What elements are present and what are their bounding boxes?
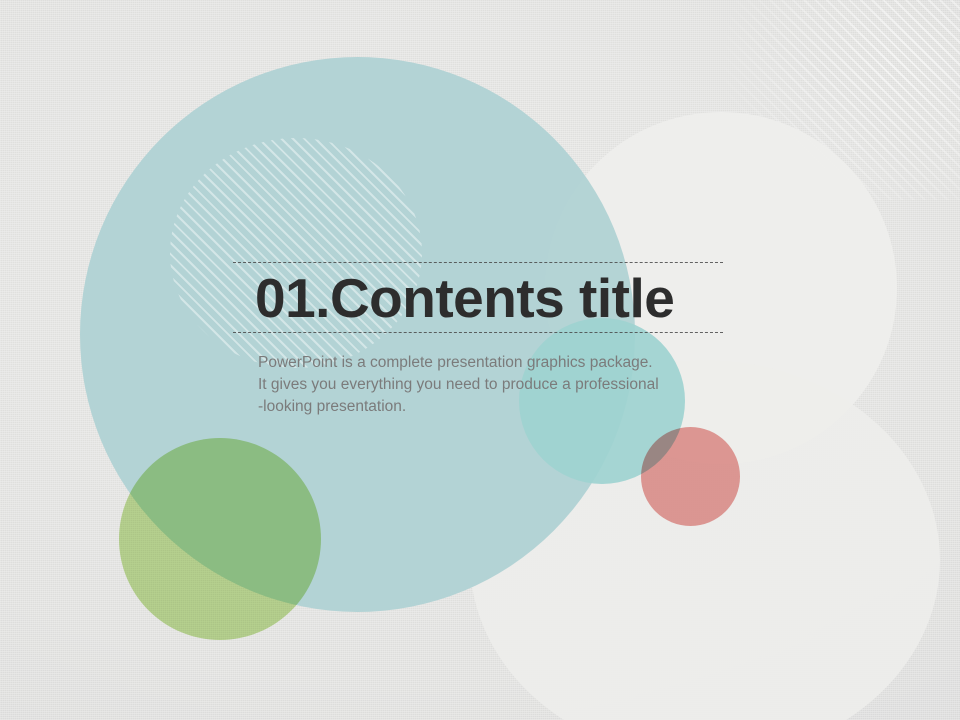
page-title: 01.Contents title xyxy=(233,263,723,332)
body-line: PowerPoint is a complete presentation gr… xyxy=(258,352,723,374)
slide-text-block: 01.Contents title PowerPoint is a comple… xyxy=(233,262,723,418)
green-disc-shape xyxy=(119,438,321,640)
title-rule-top xyxy=(233,262,723,263)
title-rule-bottom xyxy=(233,332,723,333)
body-line: -looking presentation. xyxy=(258,396,723,418)
slide-body-text: PowerPoint is a complete presentation gr… xyxy=(233,333,723,418)
body-line: It gives you everything you need to prod… xyxy=(258,374,723,396)
salmon-disc-shape xyxy=(641,427,740,526)
presentation-slide: 01.Contents title PowerPoint is a comple… xyxy=(0,0,960,720)
